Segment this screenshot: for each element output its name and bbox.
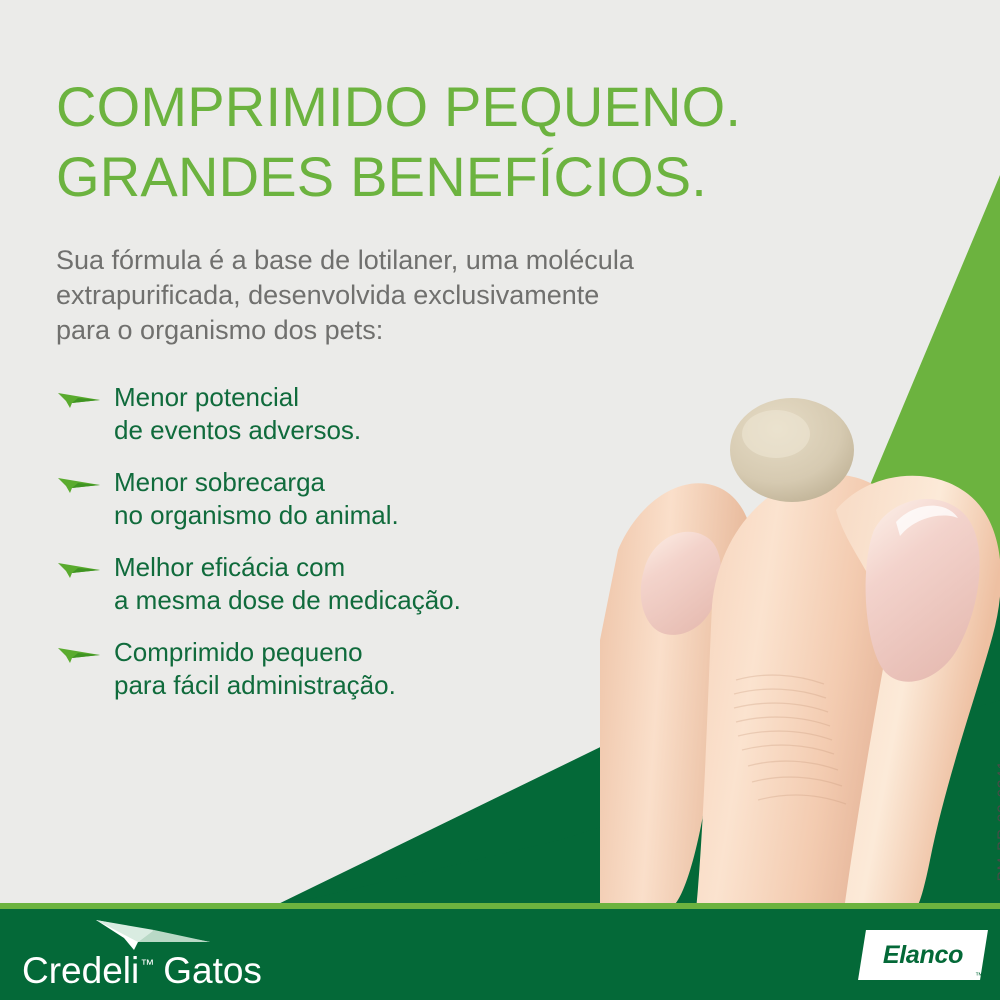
arrow-right-swoosh-icon (56, 470, 104, 500)
brand-trademark: ™ (140, 956, 154, 972)
arrow-right-swoosh-icon (56, 640, 104, 670)
job-code-text: PM-BR-23-0341 (994, 760, 1000, 881)
brand-name: Credeli (22, 950, 139, 991)
list-item: Comprimido pequeno para fácil administra… (56, 636, 596, 702)
elanco-trademark: ™ (975, 971, 983, 980)
credeli-brand-lockup: Credeli™Gatos (22, 916, 302, 994)
brand-species: Gatos (163, 950, 262, 991)
arrow-right-swoosh-icon (56, 385, 104, 415)
elanco-logo-text: Elanco (862, 930, 984, 980)
benefits-list: Menor potencial de eventos adversos. Men… (56, 381, 596, 721)
advertisement-canvas: COMPRIMIDO PEQUENO. GRANDES BENEFÍCIOS. … (0, 0, 1000, 1000)
hand-holding-tablet-photo (600, 390, 1000, 910)
intro-paragraph: Sua fórmula é a base de lotilaner, uma m… (56, 243, 736, 348)
list-item-label: Melhor eficácia com a mesma dose de medi… (104, 551, 461, 617)
tablet-pill-highlight (742, 410, 810, 458)
list-item-label: Menor sobrecarga no organismo do animal. (104, 466, 399, 532)
list-item: Menor potencial de eventos adversos. (56, 381, 596, 447)
list-item: Melhor eficácia com a mesma dose de medi… (56, 551, 596, 617)
list-item-label: Comprimido pequeno para fácil administra… (104, 636, 396, 702)
list-item: Menor sobrecarga no organismo do animal. (56, 466, 596, 532)
arrow-right-swoosh-icon (56, 555, 104, 585)
list-item-label: Menor potencial de eventos adversos. (104, 381, 361, 447)
elanco-logo: Elanco ™ (862, 930, 984, 980)
brand-wordmark: Credeli™Gatos (22, 942, 262, 993)
page-title: COMPRIMIDO PEQUENO. GRANDES BENEFÍCIOS. (56, 72, 856, 212)
